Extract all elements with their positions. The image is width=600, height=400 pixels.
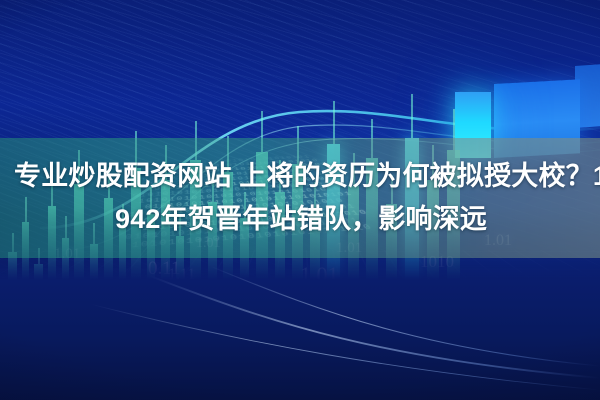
banner-title: 专业炒股配资网站 上将的资历为何被拟授大校？1 942年贺晋年站错队，影响深远 (0, 138, 600, 258)
title-line-1: 专业炒股配资网站 上将的资历为何被拟授大校？1 (0, 155, 600, 198)
stock-news-banner: 0101010101010101010101010101101010101010… (0, 0, 600, 400)
title-line-2: 942年贺晋年站错队，影响深远 (0, 198, 600, 241)
